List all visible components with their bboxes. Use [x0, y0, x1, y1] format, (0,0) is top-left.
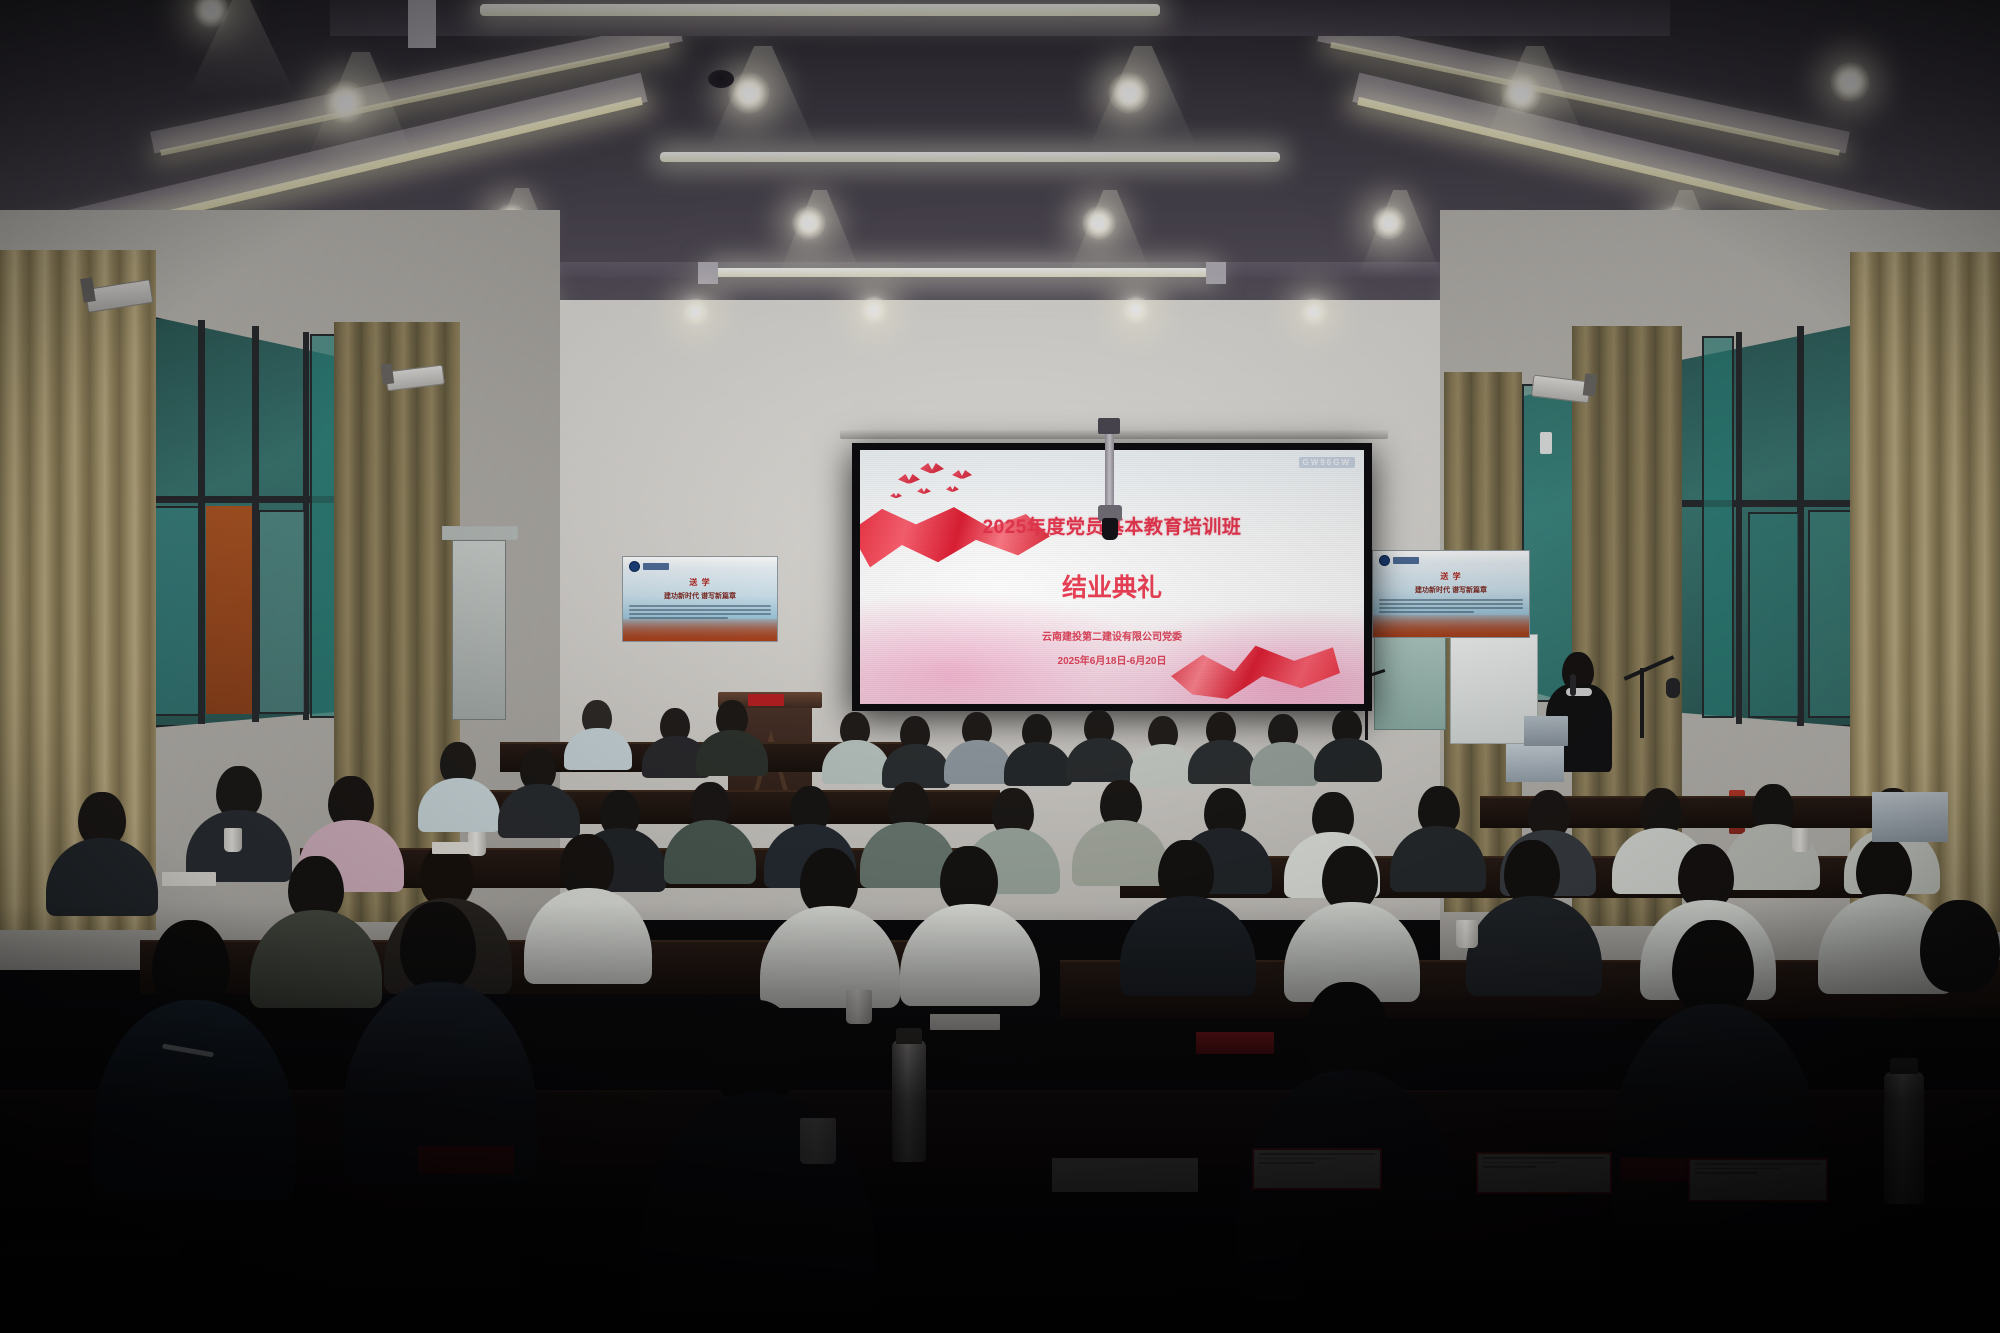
- poster-headline-right: 送 学: [1373, 571, 1529, 582]
- chair-back: [0, 1240, 180, 1333]
- audience-shoulders-foreground: [92, 1000, 296, 1200]
- paper-cup: [1792, 828, 1810, 852]
- poster-skyline-left: [623, 619, 777, 641]
- audience-head: [940, 846, 998, 912]
- audience-head: [1504, 840, 1560, 904]
- downlight-core: [743, 87, 756, 100]
- window-mullion: [1666, 500, 1868, 507]
- audience-head: [1322, 846, 1378, 910]
- tube-endcap-1a: [408, 0, 436, 48]
- exterior-brick-wall: [206, 506, 252, 714]
- downlight-core: [803, 217, 814, 228]
- certificate-document: [1476, 1152, 1612, 1194]
- downlight-core: [1844, 76, 1856, 88]
- audience-head: [560, 834, 614, 896]
- poster-bodytext-right: [1379, 599, 1523, 613]
- downlight-core: [869, 305, 878, 314]
- bird-icon: [952, 470, 972, 482]
- paper-sheet: [1052, 1158, 1198, 1192]
- microphone-icon: [1570, 674, 1576, 696]
- camera-ceiling-mount: [1098, 418, 1120, 434]
- logo-wordmark: [1393, 557, 1419, 564]
- logo-mark: [1379, 555, 1390, 566]
- downlight-core: [1515, 87, 1528, 100]
- downlight-core: [205, 4, 217, 16]
- ceiling-tube-light-3: [660, 152, 1280, 162]
- camera-pole: [1105, 432, 1114, 510]
- certificate-document: [1252, 1148, 1382, 1190]
- bird-icon: [890, 493, 902, 500]
- watermark-badge: GW96GW: [1299, 457, 1355, 468]
- mic-head-icon: [1666, 678, 1680, 698]
- paper-cup: [1456, 920, 1478, 948]
- laptop-screen[interactable]: [1506, 744, 1564, 782]
- window-mullion: [1736, 332, 1742, 724]
- audience-head: [800, 848, 858, 914]
- bird-icon: [917, 488, 931, 496]
- tablet-device[interactable]: [1524, 716, 1568, 746]
- water-bottle: [892, 1040, 926, 1162]
- tube-endcap-2a: [698, 262, 718, 284]
- bottle-cap: [896, 1028, 922, 1044]
- bird-icon: [946, 486, 959, 494]
- paper-sheet: [162, 872, 216, 886]
- poster-subline-right: 建功新时代 谱写新篇章: [1373, 585, 1529, 595]
- speaker-bracket: [381, 363, 394, 384]
- window-pane: [1748, 512, 1800, 718]
- poster-headline-left: 送 学: [623, 577, 777, 588]
- audience-head-foreground: [400, 902, 476, 990]
- water-bottle: [1884, 1072, 1924, 1204]
- window-pane: [258, 510, 306, 714]
- lectern-emblem: [748, 694, 784, 706]
- audience-head-foreground: [710, 1000, 800, 1104]
- audience-head: [1158, 840, 1214, 904]
- logo-wordmark: [643, 563, 669, 570]
- poster-subline-left: 建功新时代 谱写新篇章: [623, 591, 777, 601]
- downlight-core: [1383, 217, 1394, 228]
- left-wall-panel: [442, 526, 518, 540]
- bird-icon: [920, 463, 944, 477]
- downlight-core: [1309, 307, 1318, 316]
- window-upper-pane: [1702, 336, 1734, 718]
- downlight-core: [1123, 87, 1136, 100]
- left-door[interactable]: [452, 540, 506, 720]
- poster-logo-right: [1379, 555, 1419, 566]
- slide-organization: 云南建投第二建设有限公司党委: [860, 628, 1364, 643]
- certificate-document: [1688, 1158, 1828, 1202]
- poster-bodytext-left: [629, 605, 771, 619]
- camera-lens-icon: [1102, 518, 1118, 540]
- poster-logo-left: [629, 561, 669, 572]
- tube-endcap-2b: [1206, 262, 1226, 284]
- conference-hall-photo: 资料柜 送 学 建功新时代 谱写新篇章 送 学 建功新时代 谱写新篇章: [0, 0, 2000, 1333]
- audience-head: [1856, 838, 1912, 902]
- chair-back: [240, 1230, 520, 1333]
- audience-shoulders: [760, 906, 900, 1008]
- paper-cup: [800, 1118, 836, 1164]
- ceiling-vent: [708, 70, 734, 88]
- paper-cup: [224, 828, 242, 852]
- paper-sheet: [930, 1014, 1000, 1030]
- poster-skyline-right: [1373, 615, 1529, 637]
- downlight-core: [1131, 305, 1140, 314]
- audience-head-foreground: [1920, 900, 2000, 992]
- red-certificate-folder: [1196, 1032, 1274, 1054]
- chair-back: [1300, 1204, 1600, 1333]
- bird-icon: [898, 474, 920, 487]
- laptop-screen[interactable]: [1872, 792, 1948, 842]
- paper-cup: [846, 990, 872, 1024]
- mic-stand: [1640, 668, 1644, 738]
- slide-date-range: 2025年6月18日-6月20日: [860, 652, 1364, 667]
- red-certificate-folder: [418, 1146, 514, 1174]
- bottle-cap: [1890, 1058, 1918, 1074]
- downlight-core: [691, 307, 700, 316]
- audience-head: [1678, 844, 1734, 908]
- logo-mark: [629, 561, 640, 572]
- audience-head-foreground: [1304, 982, 1390, 1082]
- audience-head-foreground: [152, 920, 230, 1010]
- downlight-core: [339, 96, 352, 109]
- wall-poster-right: 送 学 建功新时代 谱写新篇章: [1372, 550, 1530, 638]
- wall-light-switch[interactable]: [1540, 432, 1552, 454]
- window-pane: [152, 506, 200, 716]
- audience-head-foreground: [1672, 920, 1754, 1014]
- wall-poster-left: 送 学 建功新时代 谱写新篇章: [622, 556, 778, 642]
- paper-sheet: [432, 842, 474, 854]
- slide-subtitle: 结业典礼: [860, 568, 1364, 604]
- downlight-core: [1093, 217, 1104, 228]
- ceiling-tube-light-1: [480, 4, 1160, 16]
